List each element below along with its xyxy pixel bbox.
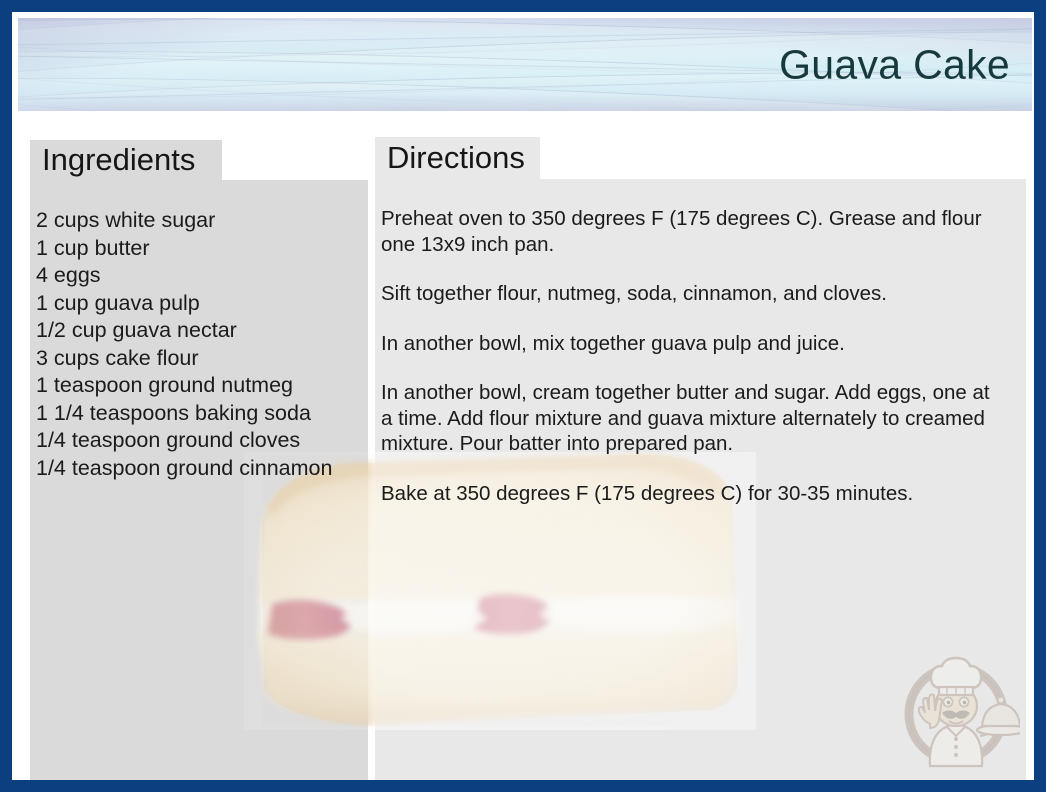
direction-step: Bake at 350 degrees F (175 degrees C) fo…	[381, 481, 1004, 507]
recipe-card: Guava Cake Ingredients 2 cups white suga…	[0, 0, 1046, 792]
direction-step: In another bowl, cream together butter a…	[381, 380, 1004, 457]
ingredient-item: 1 cup butter	[36, 235, 368, 263]
ingredient-item: 4 eggs	[36, 262, 368, 290]
ingredient-item: 1 cup guava pulp	[36, 290, 368, 318]
ingredients-list: 2 cups white sugar 1 cup butter 4 eggs 1…	[30, 180, 368, 482]
directions-heading: Directions	[375, 137, 540, 179]
ingredient-item: 1/4 teaspoon ground cloves	[36, 427, 368, 455]
header-banner: Guava Cake	[18, 18, 1032, 111]
ingredients-heading: Ingredients	[30, 140, 222, 180]
directions-list: Preheat oven to 350 degrees F (175 degre…	[375, 179, 1026, 506]
recipe-title: Guava Cake	[779, 41, 1010, 88]
ingredient-item: 1 teaspoon ground nutmeg	[36, 372, 368, 400]
ingredient-item: 2 cups white sugar	[36, 207, 368, 235]
ingredient-item: 1/2 cup guava nectar	[36, 317, 368, 345]
direction-step: In another bowl, mix together guava pulp…	[381, 331, 1004, 357]
ingredient-item: 3 cups cake flour	[36, 345, 368, 373]
ingredient-item: 1/4 teaspoon ground cinnamon	[36, 455, 368, 483]
directions-panel: Preheat oven to 350 degrees F (175 degre…	[375, 179, 1026, 780]
ingredient-item: 1 1/4 teaspoons baking soda	[36, 400, 368, 428]
direction-step: Sift together flour, nutmeg, soda, cinna…	[381, 281, 1004, 307]
ingredients-panel: 2 cups white sugar 1 cup butter 4 eggs 1…	[30, 180, 368, 780]
direction-step: Preheat oven to 350 degrees F (175 degre…	[381, 206, 1004, 257]
directions-heading-label: Directions	[387, 140, 525, 176]
ingredients-heading-label: Ingredients	[42, 142, 195, 178]
